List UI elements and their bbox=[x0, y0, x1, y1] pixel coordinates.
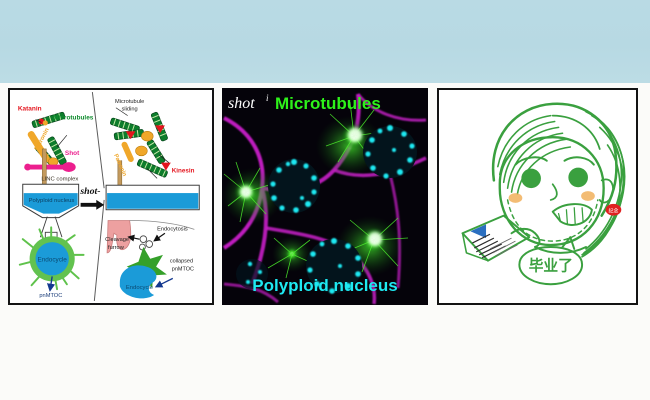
label-channel-microtubules: Microtubules bbox=[275, 94, 381, 113]
label-endocycle-right: Endocycle bbox=[126, 285, 153, 291]
label-endocytosis: Endocytosis bbox=[157, 226, 188, 232]
label-endocycle-left: Endocycle bbox=[37, 257, 67, 264]
cartoon-svg: 纪念 毕业了 bbox=[439, 90, 636, 303]
label-channel-polyploid-nucleus: Polyploid nucleus bbox=[252, 276, 397, 295]
label-microtubule-sliding-line2: sliding bbox=[122, 107, 138, 113]
label-collapsed-line2: pnMTOC bbox=[172, 267, 194, 273]
label-linc-complex: LINC complex bbox=[41, 176, 78, 182]
label-genotype: shot bbox=[228, 95, 255, 112]
panel-fluorescence-micrograph[interactable]: shot i Microtubules Polyploid nucleus bbox=[222, 88, 428, 305]
polyploid-nucleus-right bbox=[106, 185, 199, 210]
panel-cartoon-illustration[interactable]: 纪念 毕业了 bbox=[437, 88, 638, 305]
micrograph-svg: shot i Microtubules Polyploid nucleus bbox=[222, 88, 428, 305]
badge-label: 纪念 bbox=[609, 208, 619, 215]
label-microtubules: Microtubules bbox=[53, 115, 94, 122]
label-cleavage-line2: furrow bbox=[108, 245, 125, 251]
label-cleavage-line1: Cleavage bbox=[105, 237, 129, 243]
label-shot: Shot bbox=[65, 150, 80, 157]
label-kinesin: Kinesin bbox=[172, 167, 195, 174]
label-pnmtoc: pnMTOC bbox=[39, 293, 62, 299]
figure-canvas: Endocycle shot- bbox=[0, 0, 650, 400]
label-katanin: Katanin bbox=[18, 106, 42, 113]
badge-icon: 纪念 bbox=[606, 204, 622, 216]
schematic-svg: Endocycle shot- bbox=[10, 90, 212, 303]
speech-bubble-text: 毕业了 bbox=[529, 256, 573, 274]
label-polyploid-nucleus: Polyploid nucleus bbox=[29, 198, 75, 204]
label-condition-shot-minus: shot- bbox=[79, 186, 100, 197]
panel-schematic-diagram[interactable]: Endocycle shot- bbox=[8, 88, 214, 305]
label-collapsed-line1: collapsed bbox=[170, 259, 193, 265]
label-microtubule-sliding-line1: Microtubule bbox=[115, 99, 144, 105]
top-background-band bbox=[0, 0, 650, 83]
